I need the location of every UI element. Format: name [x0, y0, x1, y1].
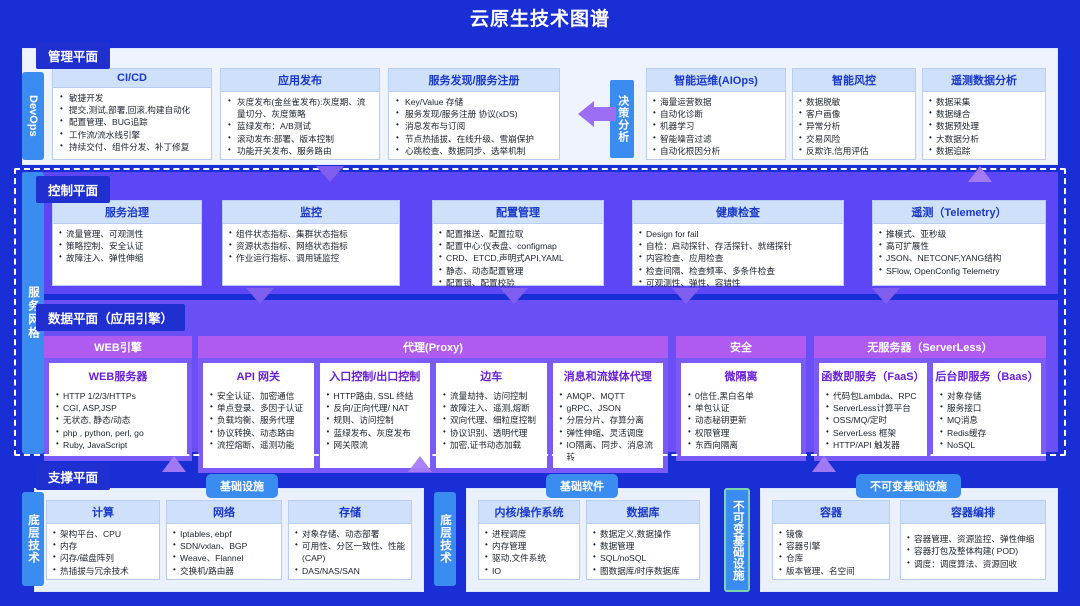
- list-item: 配置管理、BUG追踪: [59, 116, 206, 128]
- card-title: 遥测数据分析: [923, 69, 1045, 92]
- list-item: 敏捷开发: [59, 92, 206, 104]
- list-item: Ruby, JavaScript: [56, 439, 181, 451]
- card-title: CI/CD: [53, 69, 211, 88]
- list-item: 数据采集: [929, 96, 1040, 108]
- card-title: 边车: [437, 364, 546, 386]
- rail-bottom-tech-mid: 底层技术: [434, 492, 456, 586]
- card-monitoring[interactable]: 监控 组件状态指标、集群状态指标 资源状态指标、网络状态指标 作业运行指标、调用…: [222, 200, 400, 286]
- card-body: 架构平台、CPU 内存 闪存/磁盘阵列 热插拔与冗余技术: [47, 524, 159, 581]
- group-proxy: 代理(Proxy) API 网关 安全认证、加密通信 单点登录、多因子认证 负载…: [198, 336, 668, 440]
- list-item: ServerLess计算平台: [826, 402, 921, 414]
- card-title: 智能运维(AIOps): [647, 69, 785, 92]
- list-item: 数据缝合: [929, 108, 1040, 120]
- list-item: 滚动发布:部署、版本控制: [227, 133, 374, 145]
- list-item: 功能开关发布、服务路由: [227, 145, 374, 157]
- list-item: ServerLess 框架: [826, 427, 921, 439]
- list-item: Iptables, ebpf: [173, 528, 276, 540]
- list-item: 热插拔与冗余技术: [53, 565, 154, 577]
- card-body: 敏捷开发 提交,测试,部署,回滚,构建自动化 配置管理、BUG追踪 工作流/流水…: [53, 88, 211, 159]
- card-risk-control[interactable]: 智能风控 数据脱敏 客户画像 异常分析 交易风险 反欺诈,信用评估: [792, 68, 916, 160]
- list-item: CGI, ASP,JSP: [56, 402, 181, 414]
- card-body: 数据脱敏 客户画像 异常分析 交易风险 反欺诈,信用评估: [793, 92, 915, 161]
- list-item: OSS/MQ/定时: [826, 414, 921, 426]
- card-title: 微隔离: [682, 364, 800, 386]
- list-item: MQ消息: [940, 414, 1035, 426]
- list-item: 驱动,文件系统: [485, 552, 574, 564]
- card-aiops[interactable]: 智能运维(AIOps) 海量运营数据 自动化诊断 机器学习 智能噪音过滤 自动化…: [646, 68, 786, 160]
- list-item: 镜像: [779, 528, 884, 540]
- list-item: 流量劫持、访问控制: [443, 390, 541, 402]
- list-item: 自动化诊断: [653, 108, 780, 120]
- plane-tag-control: 控制平面: [36, 176, 110, 203]
- card-telemetry[interactable]: 遥测（Telemetry） 推模式、亚秒级 高可扩展性 JSON、NETCONF…: [872, 200, 1046, 286]
- card-api-gateway[interactable]: API 网关 安全认证、加密通信 单点登录、多因子认证 负载均衡、服务代理 协议…: [203, 363, 314, 468]
- list-item: 反向/正向代理/ NAT: [327, 402, 425, 414]
- list-item: 协议转换、动态路由: [210, 427, 308, 439]
- list-item: IO隔离、同步、消息流转: [560, 439, 658, 463]
- list-item: SFlow, OpenConfig Telemetry: [879, 265, 1040, 277]
- card-sidecar[interactable]: 边车 流量劫持、访问控制 故障注入、遥测,熔断 双向代理、细粒度控制 协议识别、…: [436, 363, 547, 468]
- card-title: 网络: [167, 501, 281, 524]
- group-title: 代理(Proxy): [198, 336, 668, 358]
- list-item: 客户画像: [799, 108, 910, 120]
- list-item: 单点登录、多因子认证: [210, 402, 308, 414]
- list-item: 故障注入、遥测,熔断: [443, 402, 541, 414]
- list-item: 服务接口: [940, 402, 1035, 414]
- card-micro-segmentation[interactable]: 微隔离 0信任,黑白名单 单包认证 动态秘钥更新 权限管理 东西向隔离: [681, 363, 801, 456]
- list-item: gRPC、JSON: [560, 402, 658, 414]
- pill-infrastructure: 基础设施: [206, 474, 278, 498]
- list-item: php , python, perl, go: [56, 427, 181, 439]
- card-body: 配置推送、配置拉取 配置中心:仪表盘、configmap CRD、ETCD,声明…: [433, 224, 603, 293]
- list-item: 负载均衡、服务代理: [210, 414, 308, 426]
- group-title: 安全: [676, 336, 806, 358]
- list-item: 资源状态指标、网络状态指标: [229, 240, 394, 252]
- rail-devops: DevOps: [22, 72, 44, 160]
- arrow-down-icon-management: [316, 166, 344, 182]
- card-title: 容器编排: [901, 501, 1045, 524]
- card-container[interactable]: 容器 镜像 容器引擎 仓库 版本管理、名空间: [772, 500, 890, 580]
- list-item: 图数据库/时序数据库: [593, 565, 694, 577]
- list-item: 权限管理: [688, 427, 795, 439]
- card-database[interactable]: 数据库 数据定义,数据操作 数据管理 SQL/noSQL 图数据库/时序数据库: [586, 500, 700, 580]
- list-item: 进程调度: [485, 528, 574, 540]
- list-item: 分层分片、存算分离: [560, 414, 658, 426]
- list-item: 数据追踪: [929, 145, 1040, 157]
- list-item: 0信任,黑白名单: [688, 390, 795, 402]
- card-cicd[interactable]: CI/CD 敏捷开发 提交,测试,部署,回滚,构建自动化 配置管理、BUG追踪 …: [52, 68, 212, 160]
- card-body: 流量劫持、访问控制 故障注入、遥测,熔断 双向代理、细粒度控制 协议识别、透明代…: [437, 386, 546, 467]
- card-config-management[interactable]: 配置管理 配置推送、配置拉取 配置中心:仪表盘、configmap CRD、ET…: [432, 200, 604, 286]
- card-title: 服务治理: [53, 201, 201, 224]
- list-item: 流量管理、可观测性: [59, 228, 196, 240]
- card-title: 容器: [773, 501, 889, 524]
- card-title: 内核/操作系统: [479, 501, 579, 524]
- card-container-orchestration[interactable]: 容器编排 容器管理、资源监控、弹性伸缩 容器打包及整体构建( POD) 调度：调…: [900, 500, 1046, 580]
- list-item: Design for fail: [639, 228, 838, 240]
- list-item: 数据定义,数据操作: [593, 528, 694, 540]
- card-title: 遥测（Telemetry）: [873, 201, 1045, 224]
- list-item: 闪存/磁盘阵列: [53, 552, 154, 564]
- card-baas[interactable]: 后台即服务（Baas） 对象存储 服务接口 MQ消息 Redis缓存 NoSQL: [933, 363, 1041, 456]
- card-body: Design for fail 自检：启动探针、存活探针、就绪探针 内容检查、应…: [633, 224, 843, 293]
- page-title: 云原生技术图谱: [470, 4, 610, 31]
- card-body: 安全认证、加密通信 单点登录、多因子认证 负载均衡、服务代理 协议转换、动态路由…: [204, 386, 313, 467]
- list-item: 内容检查、应用检查: [639, 252, 838, 264]
- card-message-stream-proxy[interactable]: 消息和流媒体代理 AMQP、MQTT gRPC、JSON 分层分片、存算分离 弹…: [553, 363, 664, 468]
- card-title: 数据库: [587, 501, 699, 524]
- plane-tag-management: 管理平面: [36, 42, 110, 69]
- list-item: 版本管理、名空间: [779, 565, 884, 577]
- list-item: 组件状态指标、集群状态指标: [229, 228, 394, 240]
- list-item: 仓库: [779, 552, 884, 564]
- card-health-check[interactable]: 健康检查 Design for fail 自检：启动探针、存活探针、就绪探针 内…: [632, 200, 844, 286]
- card-body: 数据采集 数据缝合 数据预处理 大数据分析 数据追踪: [923, 92, 1045, 161]
- group-web-engine: WEB引擎 WEB服务器 HTTP 1/2/3/HTTPs CGI, ASP,J…: [44, 336, 192, 440]
- list-item: 无状态, 静态/动态: [56, 414, 181, 426]
- list-item: 配置推送、配置拉取: [439, 228, 598, 240]
- list-item: 架构平台、CPU: [53, 528, 154, 540]
- group-title: WEB引擎: [44, 336, 192, 358]
- list-item: 对象存储、动态部署: [295, 528, 406, 540]
- list-item: 推模式、亚秒级: [879, 228, 1040, 240]
- card-title: WEB服务器: [50, 364, 186, 386]
- arrow-down-icon-control-d: [872, 288, 900, 304]
- list-item: 单包认证: [688, 402, 795, 414]
- list-item: 协议识别、透明代理: [443, 427, 541, 439]
- card-kernel-os[interactable]: 内核/操作系统 进程调度 内存管理 驱动,文件系统 IO: [478, 500, 580, 580]
- arrow-down-icon-control-b: [500, 288, 528, 304]
- card-storage[interactable]: 存储 对象存储、动态部署 可用性、分区一致性、性能(CAP) DAS/NAS/S…: [288, 500, 412, 580]
- list-item: 大数据分析: [929, 133, 1040, 145]
- list-item: 内存: [53, 540, 154, 552]
- list-item: 智能噪音过滤: [653, 133, 780, 145]
- list-item: 双向代理、细粒度控制: [443, 414, 541, 426]
- group-serverless: 无服务器（ServerLess） 函数即服务（FaaS） 代码包Lambda、R…: [814, 336, 1046, 440]
- list-item: 数据脱敏: [799, 96, 910, 108]
- list-item: CRD、ETCD,声明式API,YAML: [439, 252, 598, 264]
- arrow-up-icon-base-software: [408, 456, 432, 472]
- card-body: 流量管理、可观测性 策略控制、安全认证 故障注入、弹性伸缩: [53, 224, 201, 285]
- rail-bottom-tech-left: 底层技术: [22, 492, 44, 586]
- list-item: NoSQL: [940, 439, 1035, 451]
- pill-base-software: 基础软件: [546, 474, 618, 498]
- plane-tag-support: 支撑平面: [36, 463, 110, 490]
- list-item: 东西向隔离: [688, 439, 795, 451]
- card-body: 灰度发布(金丝雀发布):灰度期、流量切分、灰度策略 蓝绿发布：A/B测试 滚动发…: [221, 92, 379, 161]
- card-body: AMQP、MQTT gRPC、JSON 分层分片、存算分离 弹性伸缩、灵活调度 …: [554, 386, 663, 467]
- list-item: 作业运行指标、调用链监控: [229, 252, 394, 264]
- card-body: 组件状态指标、集群状态指标 资源状态指标、网络状态指标 作业运行指标、调用链监控: [223, 224, 399, 285]
- list-item: 网关限流: [327, 439, 425, 451]
- list-item: SQL/noSQL: [593, 552, 694, 564]
- card-title: 计算: [47, 501, 159, 524]
- list-item: 异常分析: [799, 120, 910, 132]
- card-body: Iptables, ebpf SDN/vxlan、BGP Weave、Flann…: [167, 524, 281, 581]
- card-body: 代码包Lambda、RPC ServerLess计算平台 OSS/MQ/定时 S…: [820, 386, 926, 455]
- card-service-governance[interactable]: 服务治理 流量管理、可观测性 策略控制、安全认证 故障注入、弹性伸缩: [52, 200, 202, 286]
- arrow-up-icon-immutable: [812, 456, 836, 472]
- list-item: 服务发现/服务注册 协议(xDS): [395, 108, 554, 120]
- card-telemetry-analysis[interactable]: 遥测数据分析 数据采集 数据缝合 数据预处理 大数据分析 数据追踪: [922, 68, 1046, 160]
- list-item: JSON、NETCONF,YANG结构: [879, 252, 1040, 264]
- list-item: 机器学习: [653, 120, 780, 132]
- list-item: 提交,测试,部署,回滚,构建自动化: [59, 104, 206, 116]
- list-item: 容器管理、资源监控、弹性伸缩: [907, 533, 1034, 545]
- card-title: 后台即服务（Baas）: [934, 364, 1040, 386]
- list-item: 动态秘钥更新: [688, 414, 795, 426]
- list-item: 交易风险: [799, 133, 910, 145]
- card-body: 容器管理、资源监控、弹性伸缩 容器打包及整体构建( POD) 调度：调度算法、资…: [901, 524, 1045, 579]
- card-title: 存储: [289, 501, 411, 524]
- list-item: HTTP 1/2/3/HTTPs: [56, 390, 181, 402]
- card-body: HTTP 1/2/3/HTTPs CGI, ASP,JSP 无状态, 静态/动态…: [50, 386, 186, 455]
- list-item: 规则、访问控制: [327, 414, 425, 426]
- card-title: 健康检查: [633, 201, 843, 224]
- card-body: 推模式、亚秒级 高可扩展性 JSON、NETCONF,YANG结构 SFlow,…: [873, 224, 1045, 285]
- card-body: 进程调度 内存管理 驱动,文件系统 IO: [479, 524, 579, 581]
- list-item: 策略控制、安全认证: [59, 240, 196, 252]
- list-item: 蓝绿发布、灰度发布: [327, 427, 425, 439]
- list-item: 容器引擎: [779, 540, 884, 552]
- list-item: 消息发布与订阅: [395, 120, 554, 132]
- arrow-stem-decision: [594, 107, 616, 121]
- list-item: 可用性、分区一致性、性能(CAP): [295, 540, 406, 564]
- card-title: 函数即服务（FaaS）: [820, 364, 926, 386]
- card-title: 智能风控: [793, 69, 915, 92]
- list-item: 高可扩展性: [879, 240, 1040, 252]
- card-body: 海量运营数据 自动化诊断 机器学习 智能噪音过滤 自动化根因分析: [647, 92, 785, 161]
- card-body: 数据定义,数据操作 数据管理 SQL/noSQL 图数据库/时序数据库: [587, 524, 699, 581]
- list-item: 心跳检查、数据同步、选举机制: [395, 145, 554, 157]
- card-title: 配置管理: [433, 201, 603, 224]
- card-title: 消息和流媒体代理: [554, 364, 663, 386]
- card-title: 入口控制/出口控制: [321, 364, 430, 386]
- arrow-left-icon: [578, 101, 594, 127]
- list-item: 节点热插拔、在线升级、雪崩保护: [395, 133, 554, 145]
- list-item: 调度：调度算法、资源回收: [907, 558, 1034, 570]
- list-item: 流控熔断、遥测功能: [210, 439, 308, 451]
- card-ingress-egress[interactable]: 入口控制/出口控制 HTTP路由, SSL 终结 反向/正向代理/ NAT 规则…: [320, 363, 431, 468]
- list-item: 故障注入、弹性伸缩: [59, 252, 196, 264]
- list-item: 海量运营数据: [653, 96, 780, 108]
- arrow-down-icon-control-c: [672, 288, 700, 304]
- list-item: IO: [485, 565, 574, 577]
- list-item: 灰度发布(金丝雀发布):灰度期、流量切分、灰度策略: [227, 96, 374, 120]
- list-item: 容器打包及整体构建( POD): [907, 545, 1034, 557]
- list-item: 蓝绿发布：A/B测试: [227, 120, 374, 132]
- card-faas[interactable]: 函数即服务（FaaS） 代码包Lambda、RPC ServerLess计算平台…: [819, 363, 927, 456]
- plane-tag-data: 数据平面（应用引擎）: [36, 304, 185, 331]
- card-service-discovery[interactable]: 服务发现/服务注册 Key/Value 存储 服务发现/服务注册 协议(xDS)…: [388, 68, 560, 160]
- list-item: Weave、Flannel: [173, 552, 276, 564]
- list-item: HTTP/API 触发器: [826, 439, 921, 451]
- list-item: Redis缓存: [940, 427, 1035, 439]
- card-body: 对象存储 服务接口 MQ消息 Redis缓存 NoSQL: [934, 386, 1040, 455]
- app-title-bar: 云原生技术图谱: [0, 0, 1080, 34]
- list-item: 自动化根因分析: [653, 145, 780, 157]
- list-item: 内存管理: [485, 540, 574, 552]
- arrow-up-icon-infra: [162, 456, 186, 472]
- group-title: 无服务器（ServerLess）: [814, 336, 1046, 358]
- list-item: 数据预处理: [929, 120, 1040, 132]
- list-item: AMQP、MQTT: [560, 390, 658, 402]
- pill-immutable-infrastructure: 不可变基础设施: [856, 474, 961, 498]
- arrow-up-icon-telemetry: [968, 166, 992, 182]
- card-body: 对象存储、动态部署 可用性、分区一致性、性能(CAP) DAS/NAS/SAN: [289, 524, 411, 581]
- list-item: 安全认证、加密通信: [210, 390, 308, 402]
- card-body: 镜像 容器引擎 仓库 版本管理、名空间: [773, 524, 889, 581]
- list-item: 反欺诈,信用评估: [799, 145, 910, 157]
- list-item: DAS/NAS/SAN: [295, 565, 406, 577]
- card-title: 应用发布: [221, 69, 379, 92]
- list-item: 数据管理: [593, 540, 694, 552]
- list-item: 检查间隔、检查频率、多条件检查: [639, 265, 838, 277]
- arrow-down-icon-control-a: [246, 288, 274, 304]
- card-body: Key/Value 存储 服务发现/服务注册 协议(xDS) 消息发布与订阅 节…: [389, 92, 559, 161]
- list-item: 对象存储: [940, 390, 1035, 402]
- list-item: 加密,证书动态加载: [443, 439, 541, 451]
- card-app-release[interactable]: 应用发布 灰度发布(金丝雀发布):灰度期、流量切分、灰度策略 蓝绿发布：A/B测…: [220, 68, 380, 160]
- list-item: 弹性伸缩、灵活调度: [560, 427, 658, 439]
- group-security: 安全 微隔离 0信任,黑白名单 单包认证 动态秘钥更新 权限管理 东西向隔离: [676, 336, 806, 440]
- card-title: 服务发现/服务注册: [389, 69, 559, 92]
- card-web-server[interactable]: WEB服务器 HTTP 1/2/3/HTTPs CGI, ASP,JSP 无状态…: [49, 363, 187, 456]
- list-item: SDN/vxlan、BGP: [173, 540, 276, 552]
- list-item: HTTP路由, SSL 终结: [327, 390, 425, 402]
- card-body: 0信任,黑白名单 单包认证 动态秘钥更新 权限管理 东西向隔离: [682, 386, 800, 455]
- card-title: API 网关: [204, 364, 313, 386]
- list-item: 工作流/流水线引擎: [59, 129, 206, 141]
- list-item: 代码包Lambda、RPC: [826, 390, 921, 402]
- rail-immutable-infrastructure: 不可变基础设施: [724, 488, 750, 592]
- list-item: 自检：启动探针、存活探针、就绪探针: [639, 240, 838, 252]
- card-network[interactable]: 网络 Iptables, ebpf SDN/vxlan、BGP Weave、Fl…: [166, 500, 282, 580]
- card-title: 监控: [223, 201, 399, 224]
- list-item: Key/Value 存储: [395, 96, 554, 108]
- list-item: 配置中心:仪表盘、configmap: [439, 240, 598, 252]
- card-compute[interactable]: 计算 架构平台、CPU 内存 闪存/磁盘阵列 热插拔与冗余技术: [46, 500, 160, 580]
- list-item: 静态、动态配置管理: [439, 265, 598, 277]
- list-item: 可观测性、弹性、容错性: [639, 277, 838, 289]
- list-item: 持续交付、组件分发、补丁修复: [59, 141, 206, 153]
- list-item: 交换机/路由器: [173, 565, 276, 577]
